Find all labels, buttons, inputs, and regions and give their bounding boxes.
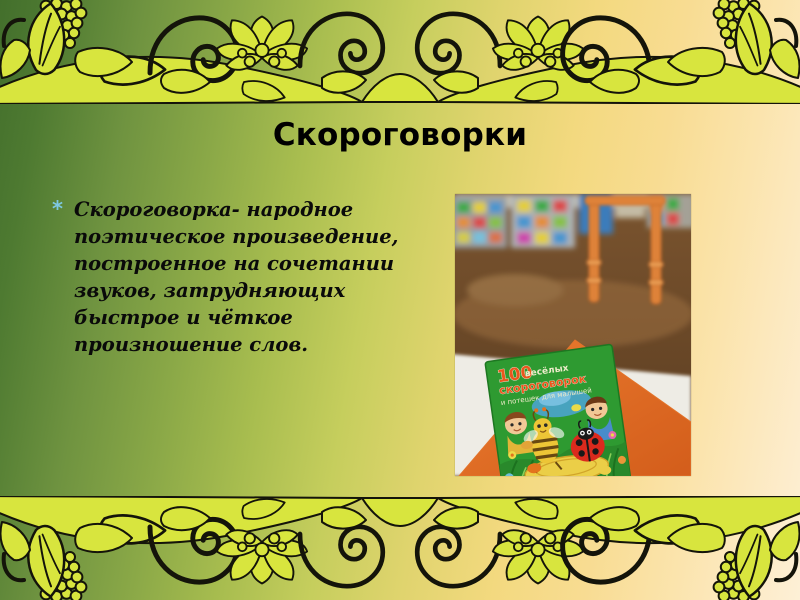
ornament-border-top: [0, 0, 800, 104]
asterisk-bullet-icon: *: [52, 196, 74, 223]
slide: Скороговорки * Скороговорка- народное по…: [0, 0, 800, 600]
bullet-item: * Скороговорка- народное поэтическое про…: [52, 196, 412, 358]
classroom-photo: 100 весёлых скороговорок и потешек для м…: [455, 194, 691, 476]
slide-body: * Скороговорка- народное поэтическое про…: [52, 196, 412, 358]
ornament-border-bottom: [0, 496, 800, 600]
slide-title: Скороговорки: [60, 118, 740, 152]
bullet-text: Скороговорка- народное поэтическое произ…: [74, 196, 412, 358]
